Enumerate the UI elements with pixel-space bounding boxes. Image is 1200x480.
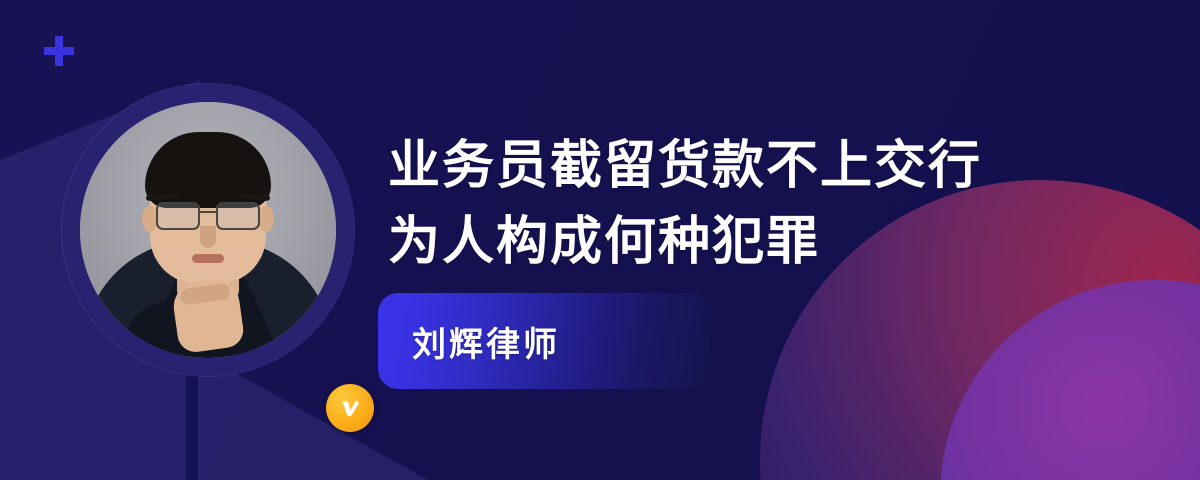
plus-icon-bar-vertical xyxy=(55,36,63,66)
lawyer-name-label: 刘辉律师 xyxy=(412,317,560,366)
verified-v-icon xyxy=(326,384,374,432)
lawyer-name-button[interactable]: 刘辉律师 xyxy=(378,293,710,389)
glasses-lens-right xyxy=(216,202,260,230)
avatar-photo xyxy=(80,102,336,358)
glasses-bridge xyxy=(198,211,218,213)
page-title: 业务员截留货款不上交行 为人构成何种犯罪 xyxy=(388,128,1088,280)
title-line-1: 业务员截留货款不上交行 xyxy=(388,128,1088,204)
portrait-glasses xyxy=(154,202,262,228)
avatar[interactable] xyxy=(62,84,354,376)
title-line-2: 为人构成何种犯罪 xyxy=(388,204,1088,280)
banner-card: 业务员截留货款不上交行 为人构成何种犯罪 刘辉律师 xyxy=(0,0,1200,480)
plus-icon xyxy=(44,36,74,66)
portrait-nose xyxy=(200,226,216,248)
portrait-mouth xyxy=(192,254,224,263)
glasses-lens-left xyxy=(156,202,200,230)
